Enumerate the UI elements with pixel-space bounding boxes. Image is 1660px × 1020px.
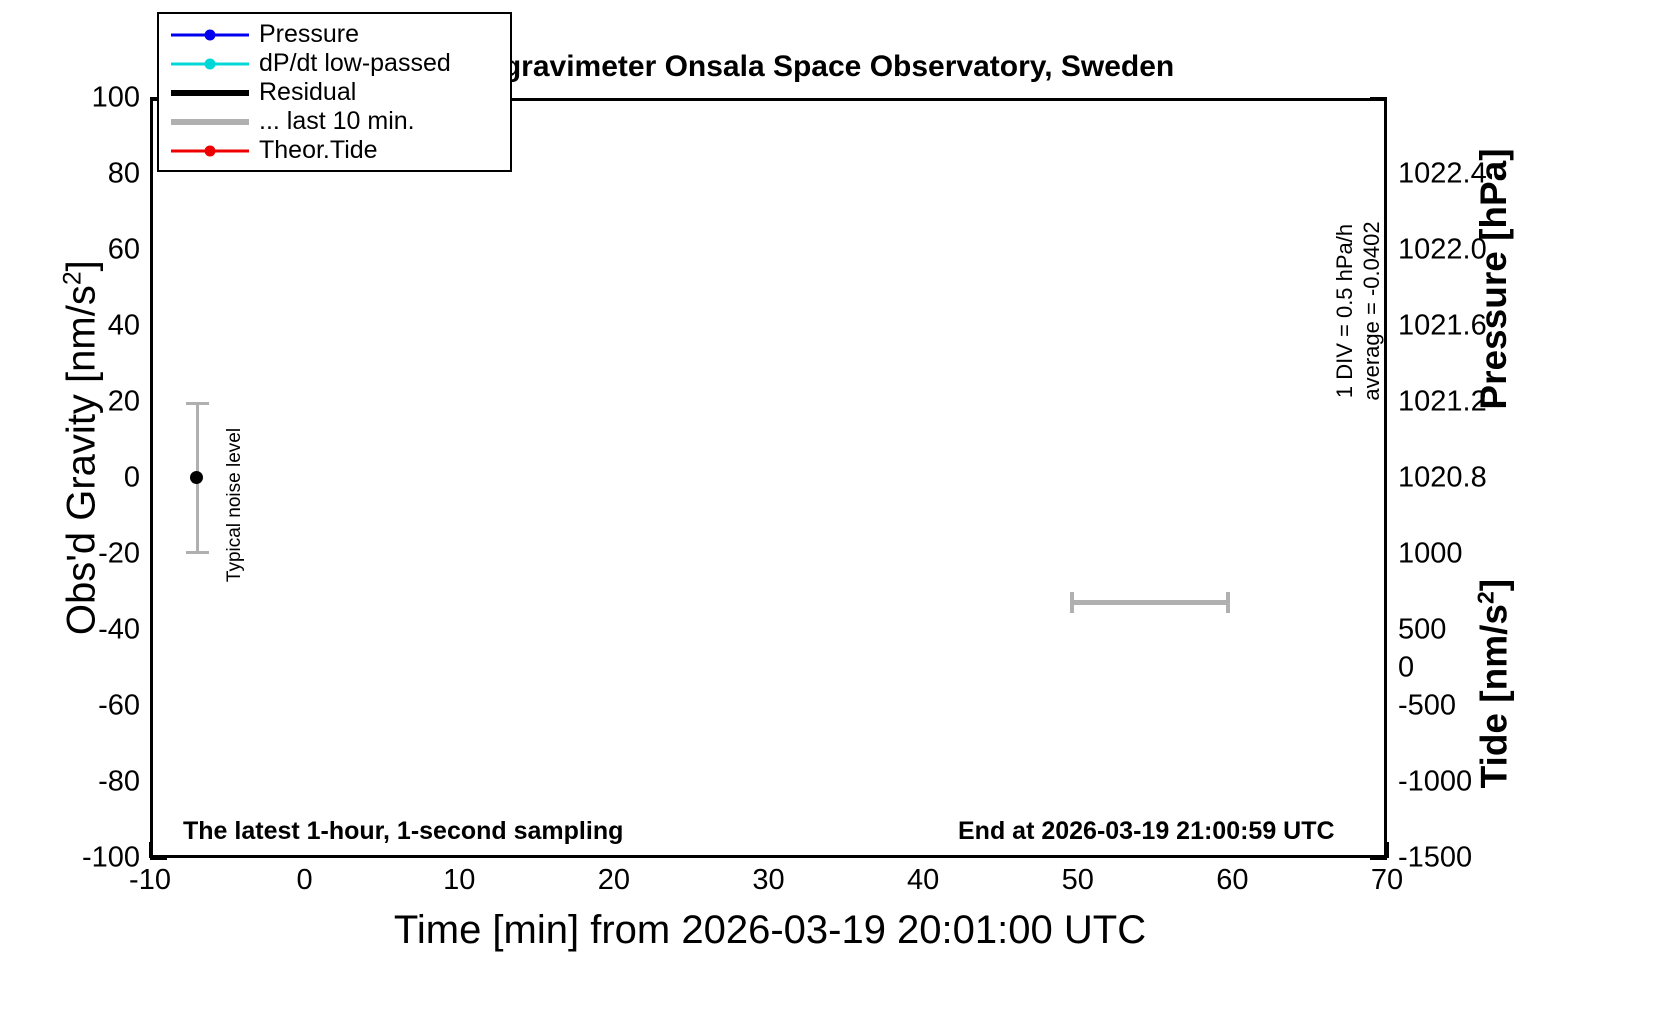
x-tick-label--10: -10 xyxy=(129,864,171,897)
y-tick-label-tide--500: -500 xyxy=(1398,690,1538,723)
legend-swatch-icon xyxy=(171,54,249,74)
legend-line xyxy=(171,119,249,125)
legend-marker-dot-icon xyxy=(205,58,216,69)
y-tick-label-left-0: 0 xyxy=(20,462,140,495)
x-tick-label-20: 20 xyxy=(598,864,630,897)
y-tick-label-left-20: 20 xyxy=(20,386,140,419)
x-tick-label-70: 70 xyxy=(1371,864,1403,897)
legend-marker-dot-icon xyxy=(205,29,216,40)
last-10-min-right-cap xyxy=(1226,592,1230,613)
legend-swatch-icon xyxy=(171,25,249,45)
y-tick-label-left-60: 60 xyxy=(20,234,140,267)
footer-note-left: The latest 1-hour, 1-second sampling xyxy=(183,817,623,846)
y-tick-label-left--100: -100 xyxy=(20,842,140,875)
footer-note-right: End at 2026-03-19 21:00:59 UTC xyxy=(958,817,1335,846)
x-tick-label-60: 60 xyxy=(1216,864,1248,897)
noise-center-dot xyxy=(190,471,203,484)
x-tick-label-10: 10 xyxy=(443,864,475,897)
average-label: average = -0.0402 xyxy=(1359,161,1385,461)
y-tick-label-left--80: -80 xyxy=(20,766,140,799)
plot-frame xyxy=(150,98,1387,858)
y-tick-labels-left: 100806040200-20-40-60-80-100 xyxy=(20,0,140,1020)
y-tick-label-left--60: -60 xyxy=(20,690,140,723)
y-tick-label-left-100: 100 xyxy=(20,82,140,115)
legend-label: Pressure xyxy=(259,22,359,47)
gravimeter-chart-page: SCG_054 gravimeter Onsala Space Observat… xyxy=(0,0,1660,1020)
y-tick-label-left-80: 80 xyxy=(20,158,140,191)
legend-marker-dot-icon xyxy=(205,145,216,156)
legend-label: dP/dt low-passed xyxy=(259,51,451,76)
y-tick-label-left--20: -20 xyxy=(20,538,140,571)
legend-swatch-icon xyxy=(171,141,249,161)
legend-item-1[interactable]: dP/dt low-passed xyxy=(171,49,500,78)
noise-bar-bottom-cap xyxy=(186,551,209,554)
legend-swatch-icon xyxy=(171,112,249,132)
y-tick-label-tide-500: 500 xyxy=(1398,614,1538,647)
y-tick-label-left-40: 40 xyxy=(20,310,140,343)
legend-label: ... last 10 min. xyxy=(259,109,415,134)
x-tick-label-50: 50 xyxy=(1062,864,1094,897)
legend-label: Theor.Tide xyxy=(259,138,378,163)
legend-label: Residual xyxy=(259,80,356,105)
chart-legend: PressuredP/dt low-passedResidual... last… xyxy=(157,12,512,172)
noise-level-label: Typical noise level xyxy=(224,410,246,600)
last-10-min-bar xyxy=(1070,600,1230,605)
legend-item-2[interactable]: Residual xyxy=(171,78,500,107)
x-tick-label-30: 30 xyxy=(752,864,784,897)
x-tick-label-0: 0 xyxy=(297,864,313,897)
x-axis-label: Time [min] from 2026-03-19 20:01:00 UTC xyxy=(150,908,1390,953)
legend-swatch-icon xyxy=(171,83,249,103)
y-tick-label-tide--1000: -1000 xyxy=(1398,766,1538,799)
legend-line xyxy=(171,90,249,96)
y-tick-label-tide-1000: 1000 xyxy=(1398,538,1538,571)
y-tick-label-tide-0: 0 xyxy=(1398,652,1538,685)
x-tick-label-40: 40 xyxy=(907,864,939,897)
legend-item-4[interactable]: Theor.Tide xyxy=(171,136,500,165)
div-scale-label: 1 DIV = 0.5 hPa/h xyxy=(1332,161,1358,461)
legend-item-0[interactable]: Pressure xyxy=(171,20,500,49)
legend-item-3[interactable]: ... last 10 min. xyxy=(171,107,500,136)
y-tick-label-left--40: -40 xyxy=(20,614,140,647)
y-tick-label-tide--1500: -1500 xyxy=(1398,842,1538,875)
y-tick-labels-tide: 10005000-500-1000-1500 xyxy=(1398,0,1538,1020)
